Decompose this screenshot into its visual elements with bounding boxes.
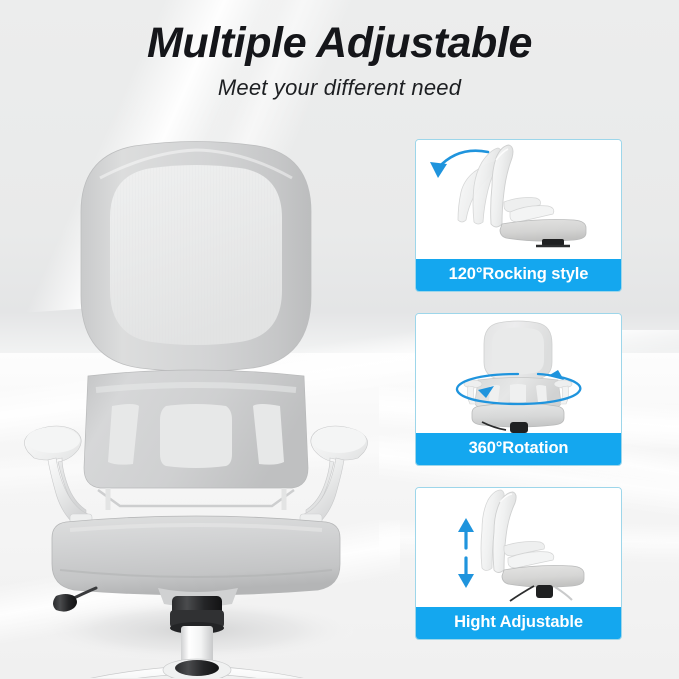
page-subtitle: Meet your different need bbox=[0, 77, 679, 99]
hero-chair-image bbox=[0, 118, 404, 678]
feature-panel-rocking[interactable]: 120°Rocking style bbox=[415, 139, 622, 292]
panel-caption-rotation: 360°Rotation bbox=[416, 433, 621, 465]
lumbar-mesh-center bbox=[160, 404, 232, 468]
panel-art-rocking bbox=[416, 140, 621, 259]
armrest-right bbox=[300, 426, 368, 528]
feature-panel-list: 120°Rocking style bbox=[415, 139, 622, 640]
height-arrow-icon bbox=[458, 518, 474, 588]
seat-cushion bbox=[502, 566, 584, 588]
panel-caption-rocking: 120°Rocking style bbox=[416, 259, 621, 291]
backrest-mesh-texture bbox=[110, 165, 282, 345]
panel-art-rotation bbox=[416, 314, 621, 433]
feature-panel-rotation[interactable]: 360°Rotation bbox=[415, 313, 622, 466]
headline-block: Multiple Adjustable Meet your different … bbox=[0, 22, 679, 99]
panel-art-height bbox=[416, 488, 621, 607]
base-leg bbox=[510, 586, 534, 601]
cylinder bbox=[510, 422, 528, 433]
page-title: Multiple Adjustable bbox=[0, 22, 679, 65]
five-star-base bbox=[36, 659, 358, 678]
feature-panel-height[interactable]: Hight Adjustable bbox=[415, 487, 622, 640]
backrest-mesh bbox=[492, 328, 544, 375]
armrest-ghosts bbox=[504, 198, 554, 223]
armrest-left bbox=[24, 426, 92, 528]
panel-caption-height: Hight Adjustable bbox=[416, 607, 621, 639]
product-infographic: Multiple Adjustable Meet your different … bbox=[0, 0, 679, 679]
gas-cylinder bbox=[536, 585, 553, 598]
seat-cushion bbox=[500, 220, 586, 242]
back-support-bar bbox=[98, 490, 294, 506]
